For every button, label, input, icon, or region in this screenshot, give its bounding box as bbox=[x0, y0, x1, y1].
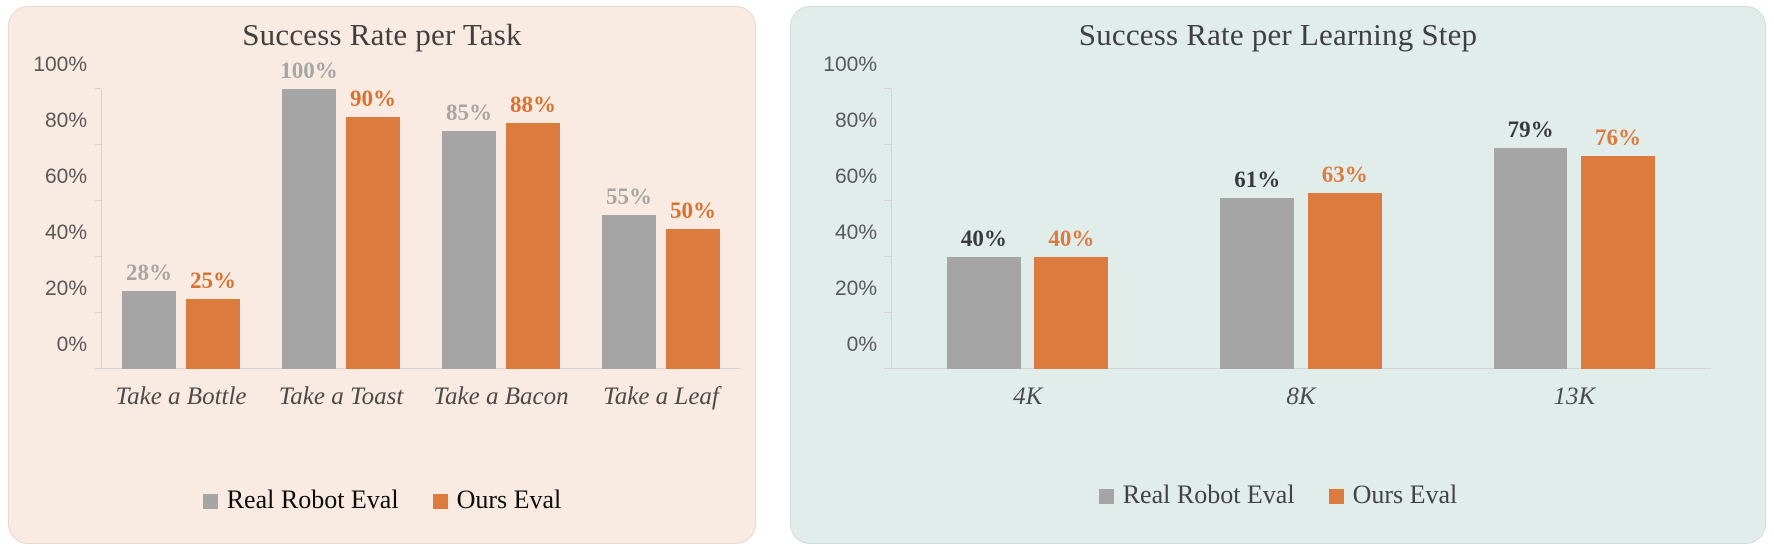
bar-value-label: 50% bbox=[670, 198, 716, 224]
y-tick-40 bbox=[94, 256, 101, 257]
x-label-task-3: Take a Leaf bbox=[603, 383, 719, 411]
bar-value-label: 100% bbox=[280, 58, 338, 84]
bar-group: 55% 50% Take a Leaf bbox=[581, 89, 741, 369]
bar-value-label: 85% bbox=[446, 100, 492, 126]
y-tick-20 bbox=[884, 312, 891, 313]
plot-area-task: 0% 20% 40% 60% 80% 100% 28% 25% Take a B… bbox=[101, 89, 741, 369]
chart-title-learning-step: Success Rate per Learning Step bbox=[791, 17, 1765, 53]
legend-label: Ours Eval bbox=[1353, 480, 1458, 510]
chart-panel-learning-step: Success Rate per Learning Step 0% 20% 40… bbox=[790, 6, 1766, 544]
bar-value-label: 40% bbox=[1048, 226, 1094, 252]
legend-item-real-robot-eval[interactable]: Real Robot Eval bbox=[1099, 480, 1295, 510]
plot-area-learning-step: 0% 20% 40% 60% 80% 100% 40% 40% 4K 61% 6… bbox=[891, 89, 1711, 369]
bar-real-2[interactable]: 85% bbox=[442, 131, 496, 369]
y-label-20: 20% bbox=[45, 277, 87, 301]
x-label-task-2: Take a Bacon bbox=[433, 383, 568, 411]
y-label-80: 80% bbox=[45, 109, 87, 133]
x-label-task-1: Take a Toast bbox=[279, 383, 404, 411]
bar-ours-0[interactable]: 25% bbox=[186, 299, 240, 369]
y-tick-20 bbox=[94, 312, 101, 313]
bar-ours-3[interactable]: 50% bbox=[666, 229, 720, 369]
legend-swatch-icon bbox=[1329, 489, 1344, 504]
legend-label: Real Robot Eval bbox=[227, 485, 399, 515]
bar-value-label: 76% bbox=[1595, 125, 1641, 151]
bar-ours-1[interactable]: 90% bbox=[346, 117, 400, 369]
bar-group: 28% 25% Take a Bottle bbox=[101, 89, 261, 369]
bar-group: 61% 63% 8K bbox=[1164, 89, 1437, 369]
legend-swatch-icon bbox=[203, 494, 218, 509]
legend-task: Real Robot Eval Ours Eval bbox=[9, 485, 755, 515]
chart-title-task: Success Rate per Task bbox=[9, 17, 755, 53]
legend-swatch-icon bbox=[1099, 489, 1114, 504]
legend-item-real-robot-eval[interactable]: Real Robot Eval bbox=[203, 485, 399, 515]
chart-panel-task: Success Rate per Task 0% 20% 40% 60% 80%… bbox=[8, 6, 756, 544]
legend-label: Ours Eval bbox=[457, 485, 562, 515]
bar-ours-0[interactable]: 40% bbox=[1034, 257, 1108, 369]
bar-value-label: 61% bbox=[1234, 167, 1280, 193]
bar-real-2[interactable]: 79% bbox=[1494, 148, 1568, 369]
bar-group: 85% 88% Take a Bacon bbox=[421, 89, 581, 369]
legend-learning-step: Real Robot Eval Ours Eval bbox=[791, 480, 1765, 510]
bar-real-1[interactable]: 61% bbox=[1220, 198, 1294, 369]
figure-root: Success Rate per Task 0% 20% 40% 60% 80%… bbox=[0, 0, 1774, 550]
y-tick-60 bbox=[94, 200, 101, 201]
bar-value-label: 28% bbox=[126, 260, 172, 286]
y-tick-40 bbox=[884, 256, 891, 257]
x-label-step-1: 8K bbox=[1286, 383, 1315, 411]
legend-label: Real Robot Eval bbox=[1123, 480, 1295, 510]
x-label-task-0: Take a Bottle bbox=[115, 383, 246, 411]
y-tick-100 bbox=[884, 88, 891, 89]
y-label-80: 80% bbox=[835, 109, 877, 133]
bar-ours-1[interactable]: 63% bbox=[1308, 193, 1382, 369]
bar-value-label: 40% bbox=[961, 226, 1007, 252]
legend-swatch-icon bbox=[433, 494, 448, 509]
bar-value-label: 63% bbox=[1322, 162, 1368, 188]
bar-real-1[interactable]: 100% bbox=[282, 89, 336, 369]
bar-group: 40% 40% 4K bbox=[891, 89, 1164, 369]
bar-real-3[interactable]: 55% bbox=[602, 215, 656, 369]
y-label-0: 0% bbox=[847, 333, 877, 357]
legend-item-ours-eval[interactable]: Ours Eval bbox=[433, 485, 562, 515]
y-tick-0 bbox=[94, 368, 101, 369]
bar-value-label: 88% bbox=[510, 92, 556, 118]
x-label-step-2: 13K bbox=[1553, 383, 1595, 411]
y-label-40: 40% bbox=[45, 221, 87, 245]
bar-value-label: 25% bbox=[190, 268, 236, 294]
y-label-20: 20% bbox=[835, 277, 877, 301]
bar-value-label: 90% bbox=[350, 86, 396, 112]
y-tick-0 bbox=[884, 368, 891, 369]
legend-item-ours-eval[interactable]: Ours Eval bbox=[1329, 480, 1458, 510]
bar-ours-2[interactable]: 88% bbox=[506, 123, 560, 369]
bar-real-0[interactable]: 40% bbox=[947, 257, 1021, 369]
y-label-60: 60% bbox=[45, 165, 87, 189]
y-label-40: 40% bbox=[835, 221, 877, 245]
bar-group: 79% 76% 13K bbox=[1438, 89, 1711, 369]
bar-groups-task: 28% 25% Take a Bottle 100% 90% Take a To… bbox=[101, 89, 741, 369]
y-tick-60 bbox=[884, 200, 891, 201]
bar-group: 100% 90% Take a Toast bbox=[261, 89, 421, 369]
bar-value-label: 79% bbox=[1508, 117, 1554, 143]
y-label-0: 0% bbox=[57, 333, 87, 357]
y-label-100: 100% bbox=[33, 53, 87, 77]
bar-real-0[interactable]: 28% bbox=[122, 291, 176, 369]
bar-value-label: 55% bbox=[606, 184, 652, 210]
y-label-100: 100% bbox=[823, 53, 877, 77]
bar-ours-2[interactable]: 76% bbox=[1581, 156, 1655, 369]
y-tick-80 bbox=[94, 144, 101, 145]
y-tick-80 bbox=[884, 144, 891, 145]
bar-groups-learning-step: 40% 40% 4K 61% 63% 8K 79% 76% 13K bbox=[891, 89, 1711, 369]
y-tick-100 bbox=[94, 88, 101, 89]
x-label-step-0: 4K bbox=[1013, 383, 1042, 411]
y-label-60: 60% bbox=[835, 165, 877, 189]
